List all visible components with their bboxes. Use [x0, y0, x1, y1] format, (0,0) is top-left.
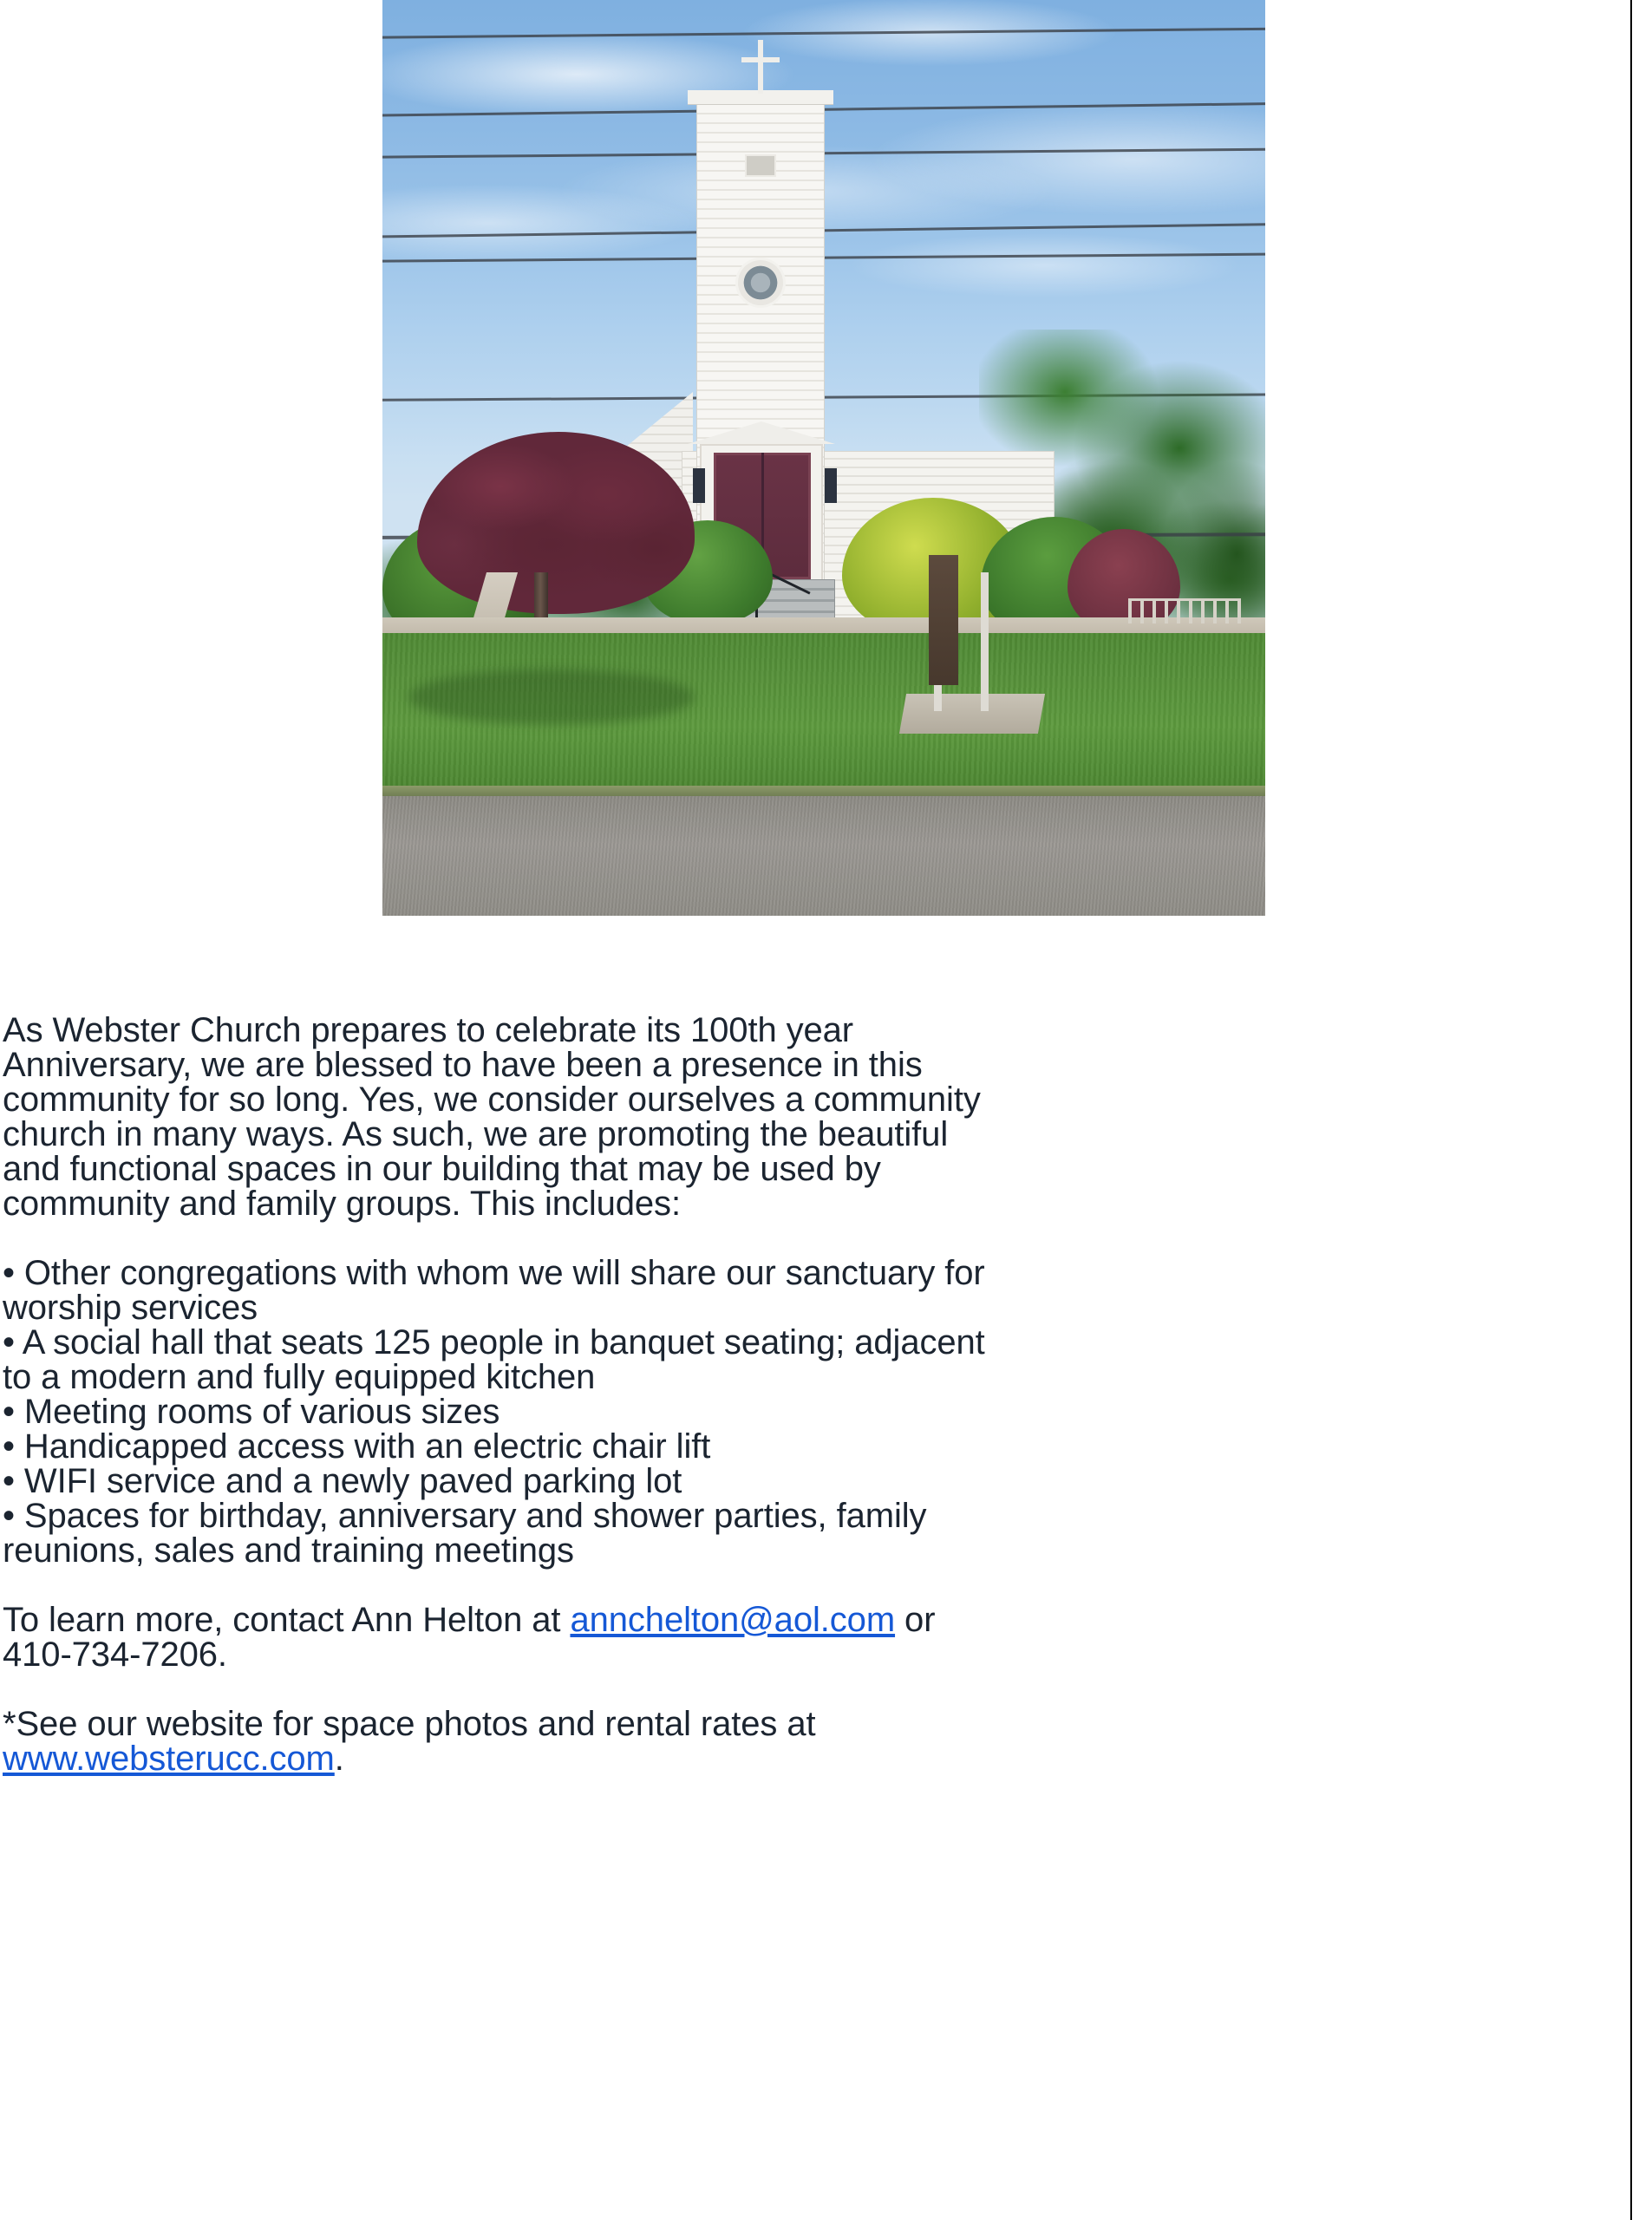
right-edge-rule — [1630, 0, 1632, 2220]
list-item: • Other congregations with whom we will … — [3, 1256, 1000, 1325]
contact-lead-text: To learn more, contact Ann Helton at — [3, 1601, 570, 1639]
list-item: • Handicapped access with an electric ch… — [3, 1429, 1000, 1464]
road-pavement — [382, 796, 1265, 916]
sign-board — [929, 555, 958, 685]
entrance-lamp-right — [825, 468, 837, 503]
photo-sky — [382, 0, 1265, 916]
page-canvas: As Webster Church prepares to celebrate … — [0, 0, 1652, 2220]
intro-paragraph: As Webster Church prepares to celebrate … — [3, 1013, 1000, 1221]
contact-paragraph: To learn more, contact Ann Helton at ann… — [3, 1603, 1000, 1672]
tree-shadow — [408, 669, 695, 725]
tower-louver-vent — [745, 154, 776, 177]
background-fence — [1128, 598, 1241, 624]
entrance-lamp-left — [693, 468, 705, 503]
paragraph-spacer — [3, 1221, 1000, 1256]
list-item: • Spaces for birthday, anniversary and s… — [3, 1498, 1000, 1568]
paragraph-spacer — [3, 1568, 1000, 1603]
website-link[interactable]: www.websterucc.com — [3, 1740, 335, 1778]
sign-concrete-pad — [899, 694, 1045, 734]
body-copy: As Webster Church prepares to celebrate … — [3, 1013, 1000, 1776]
webster-church-exterior-photo — [382, 0, 1265, 916]
paragraph-spacer — [3, 1672, 1000, 1707]
list-item: • Meeting rooms of various sizes — [3, 1394, 1000, 1429]
cross-icon — [741, 57, 780, 62]
sign-post — [981, 572, 989, 711]
tower-rose-window — [738, 260, 783, 305]
email-link[interactable]: annchelton@aol.com — [570, 1601, 895, 1639]
website-note-lead-text: *See our website for space photos and re… — [3, 1705, 816, 1743]
website-note-paragraph: *See our website for space photos and re… — [3, 1707, 1000, 1776]
list-item: • A social hall that seats 125 people in… — [3, 1325, 1000, 1394]
website-note-trailing-text: . — [335, 1740, 344, 1778]
list-item: • WIFI service and a newly paved parking… — [3, 1464, 1000, 1498]
cross-icon — [758, 40, 763, 94]
